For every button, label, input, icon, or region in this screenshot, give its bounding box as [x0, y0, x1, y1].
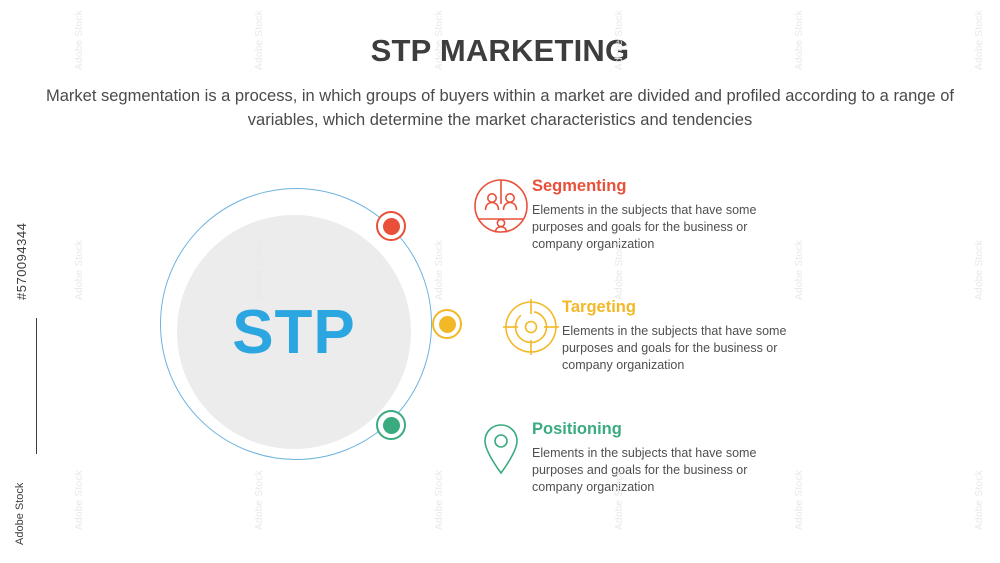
item-text-segmenting: Segmenting Elements in the subjects that…: [532, 175, 782, 253]
asset-id-label: #570094344: [14, 223, 29, 300]
page-title: STP MARKETING: [0, 33, 1000, 69]
people-circle-icon: [470, 175, 532, 237]
page-subtitle: Market segmentation is a process, in whi…: [45, 84, 955, 132]
node-marker-targeting[interactable]: [432, 309, 462, 339]
item-title-segmenting: Segmenting: [532, 177, 782, 196]
node-marker-segmenting[interactable]: [376, 211, 406, 241]
stp-center-label: STP: [177, 215, 411, 449]
item-description-segmenting: Elements in the subjects that have some …: [532, 202, 782, 253]
watermark-tile: Adobe Stock: [74, 470, 85, 530]
node-dot-targeting: [439, 316, 456, 333]
item-text-targeting: Targeting Elements in the subjects that …: [562, 296, 812, 374]
node-dot-segmenting: [383, 218, 400, 235]
watermark-tile: Adobe Stock: [794, 470, 805, 530]
item-description-positioning: Elements in the subjects that have some …: [532, 445, 782, 496]
map-pin-icon: [470, 418, 532, 480]
item-targeting[interactable]: Targeting Elements in the subjects that …: [500, 296, 812, 374]
item-segmenting[interactable]: Segmenting Elements in the subjects that…: [470, 175, 782, 253]
item-description-targeting: Elements in the subjects that have some …: [562, 323, 812, 374]
watermark-tile: Adobe Stock: [974, 470, 985, 530]
watermark-tile: Adobe Stock: [794, 240, 805, 300]
asset-id-divider: [36, 318, 37, 454]
stock-credit-label: Adobe Stock: [14, 483, 26, 545]
target-crosshair-icon: [500, 296, 562, 358]
item-text-positioning: Positioning Elements in the subjects tha…: [532, 418, 782, 496]
item-title-positioning: Positioning: [532, 420, 782, 439]
node-dot-positioning: [383, 417, 400, 434]
watermark-tile: Adobe Stock: [74, 240, 85, 300]
watermark-tile: Adobe Stock: [974, 240, 985, 300]
node-marker-positioning[interactable]: [376, 410, 406, 440]
watermark-tile: Adobe Stock: [254, 470, 265, 530]
watermark-tile: Adobe Stock: [434, 470, 445, 530]
item-positioning[interactable]: Positioning Elements in the subjects tha…: [470, 418, 782, 496]
item-title-targeting: Targeting: [562, 298, 812, 317]
stp-circle-graphic: STP: [160, 188, 440, 468]
